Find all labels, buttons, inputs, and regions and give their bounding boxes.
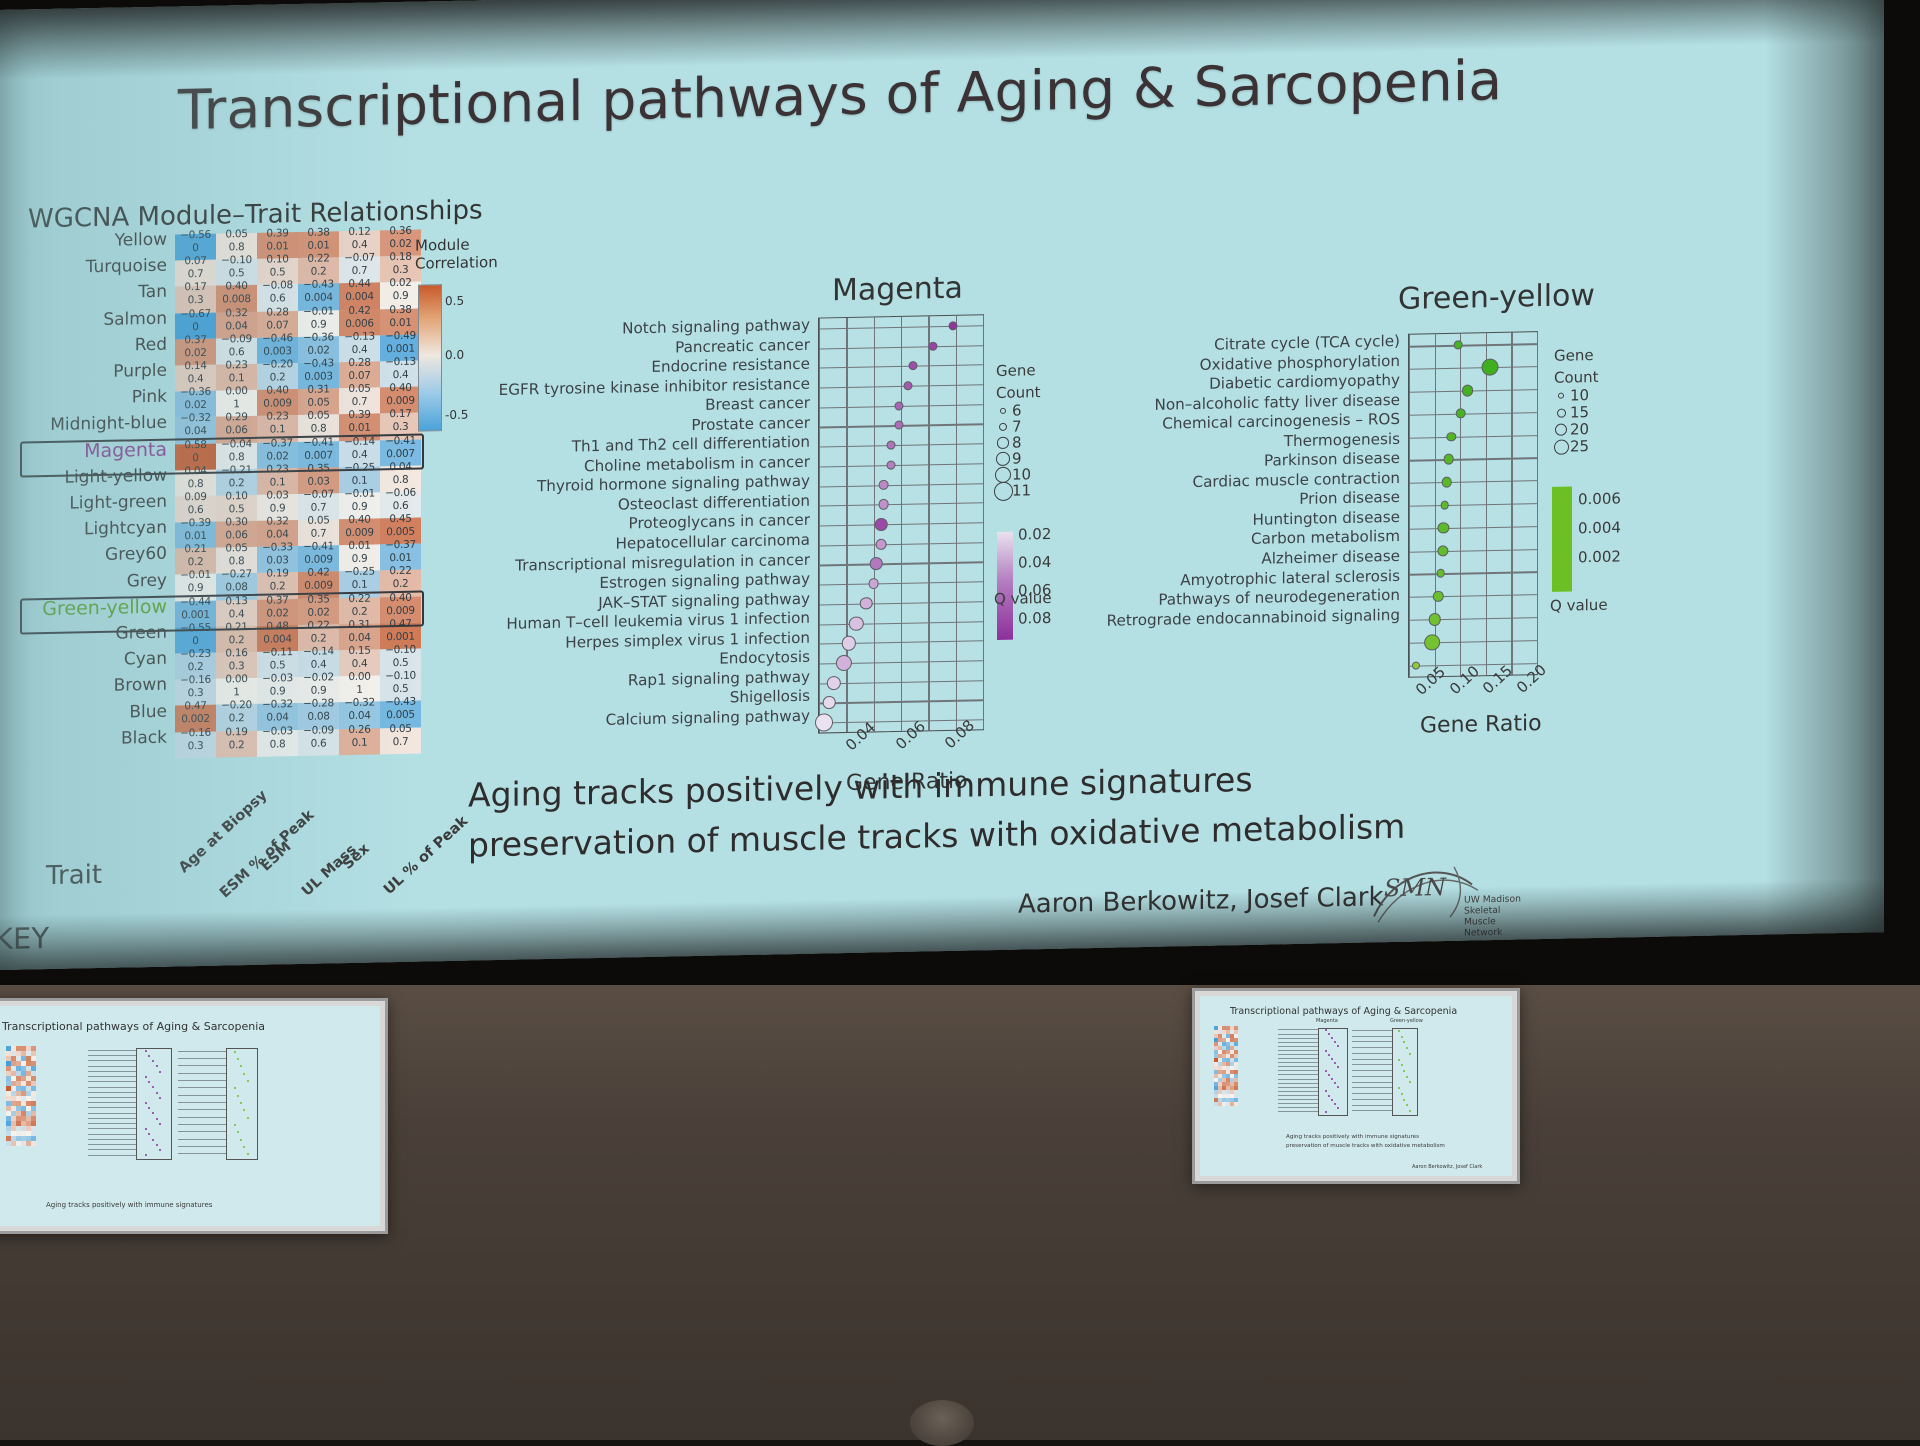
thumb-dotplot-point [1325, 1111, 1327, 1113]
thumb-label-line [178, 1095, 226, 1096]
thumb-label-line [1278, 1103, 1318, 1104]
thumb-label-line [1278, 1054, 1318, 1055]
thumb-label-line [88, 1087, 136, 1088]
thumb-label-line [88, 1128, 136, 1129]
thumb-label-line [1352, 1053, 1392, 1054]
thumb-label-line [1352, 1076, 1392, 1077]
module-legend-tick-1: 0.0 [445, 348, 464, 362]
module-legend-colorbar [418, 284, 442, 431]
thumb-label-line [1278, 1083, 1318, 1084]
thumb-panel-title: Green-yellow [1390, 1018, 1423, 1024]
size-legend-marker [1554, 439, 1569, 454]
dotplot-point [1456, 408, 1467, 419]
screen-gradient-left [0, 2, 420, 970]
gridline-horizontal [1409, 572, 1537, 576]
thumb-heatmap-cell [1234, 1102, 1238, 1106]
monitor-right-title: Transcriptional pathways of Aging & Sarc… [1230, 1006, 1457, 1017]
thumb-label-line [1278, 1062, 1318, 1063]
size-legend-marker [1555, 424, 1567, 436]
thumb-label-line [1278, 1038, 1318, 1039]
thumb-panel-title: Magenta [1316, 1018, 1338, 1024]
thumb-label-line [88, 1123, 136, 1124]
thumb-label-line [88, 1066, 136, 1067]
size-legend-marker [1557, 408, 1566, 417]
thumb-dotplot-point [240, 1139, 242, 1141]
thumb-label-line [88, 1139, 136, 1140]
thumb-dotplot-point [237, 1095, 239, 1097]
module-legend-title-2: Correlation [415, 253, 507, 273]
thumb-dotplot-point [247, 1117, 249, 1119]
dotplot-point [827, 676, 841, 691]
gridline-vertical [1511, 333, 1512, 675]
dotplot-point [1424, 634, 1440, 650]
thumb-dotplot-point [1325, 1070, 1327, 1072]
thumb-dotplot-point [234, 1051, 236, 1053]
qvalue-legend-label: 0.004 [1578, 518, 1621, 537]
gridline-vertical [819, 319, 820, 733]
thumb-label-line [88, 1081, 136, 1082]
thumb-dotplot-point [1331, 1058, 1333, 1060]
thumb-dotplot-point [1325, 1050, 1327, 1052]
gridline-vertical [1486, 333, 1487, 675]
gridline-vertical [1460, 334, 1461, 676]
projection-screen: Transcriptional pathways of Aging & Sarc… [0, 0, 1884, 970]
dotplot-point [1412, 661, 1420, 669]
thumb-label-line [1352, 1059, 1392, 1060]
thumb-label-line [1278, 1107, 1318, 1108]
thumb-dotplot-point [145, 1128, 147, 1130]
dotplot-point [870, 557, 883, 570]
dotplot-point [836, 655, 852, 672]
thumb-label-line [178, 1087, 226, 1088]
gridline-vertical [956, 316, 957, 730]
gridline-horizontal [1409, 503, 1537, 507]
thumb-label-line [88, 1076, 136, 1077]
gridline-horizontal [1409, 435, 1537, 439]
dotplot-point [1481, 359, 1498, 376]
dotplot-magenta-title: Magenta [832, 271, 963, 309]
dotplot-magenta: Magenta Notch signaling pathwayPancreati… [470, 269, 1030, 760]
thumb-dotplot-point [237, 1058, 239, 1060]
thumb-label-line [88, 1118, 136, 1119]
gridline-vertical [901, 317, 902, 731]
size-legend-marker [996, 452, 1010, 466]
dotplot-point [823, 696, 836, 709]
desk-object [910, 1400, 974, 1446]
size-legend-marker [1558, 393, 1564, 399]
dotplot-point [1438, 522, 1449, 533]
thumb-label-line [1278, 1046, 1318, 1047]
gridline-horizontal [1409, 526, 1537, 530]
dotplot-point [1462, 384, 1474, 396]
dotplot-point [876, 539, 887, 550]
gy-size-legend-title-2: Count [1554, 368, 1599, 387]
gy-size-legend-title-1: Gene [1554, 346, 1594, 365]
size-legend-marker [999, 422, 1008, 431]
thumb-label-line [1352, 1036, 1392, 1037]
thumb-label-line [178, 1153, 226, 1154]
monitor-left-caption: Aging tracks positively with immune sign… [46, 1201, 212, 1209]
dotplot-point [1454, 341, 1463, 350]
dotplot-point [868, 578, 879, 589]
thumb-dotplot-point [152, 1139, 154, 1141]
monitor-left[interactable]: Transcriptional pathways of Aging & Sarc… [0, 998, 388, 1234]
thumb-label-line [88, 1050, 136, 1051]
gy-qvalue-legend-title: Q value [1550, 596, 1608, 615]
thumb-label-line [88, 1149, 136, 1150]
dotplot-point [1443, 454, 1454, 465]
qvalue-legend-label: 0.006 [1578, 489, 1621, 508]
thumb-label-line [1352, 1030, 1392, 1031]
thumb-label-line [88, 1060, 136, 1061]
thumb-dotplot-point [156, 1092, 158, 1094]
thumb-label-line [1278, 1029, 1318, 1030]
thumb-dotplot-point [1328, 1054, 1330, 1056]
monitor-right-authors: Aaron Berkowitz, Josef Clark [1412, 1164, 1482, 1170]
thumb-dotplot-point [247, 1080, 249, 1082]
dotplot-green-yellow: Green-yellow Citrate cycle (TCA cycle)Ox… [1020, 277, 1660, 760]
dotplot-point [904, 381, 913, 390]
thumb-label-line [178, 1058, 226, 1059]
thumb-label-line [88, 1071, 136, 1072]
size-legend-label: 20 [1570, 420, 1589, 438]
thumb-dotplot-panel [136, 1048, 172, 1160]
thumb-dotplot-point [1406, 1047, 1408, 1049]
thumb-dotplot-point [1398, 1059, 1400, 1061]
thumb-label-line [1278, 1079, 1318, 1080]
dotplot-gy-title: Green-yellow [1398, 278, 1595, 317]
thumb-label-line [88, 1102, 136, 1103]
monitor-left-screen: Transcriptional pathways of Aging & Sarc… [0, 1006, 380, 1226]
thumb-label-line [178, 1073, 226, 1074]
thumb-label-line [1278, 1050, 1318, 1051]
thumb-label-line [1278, 1070, 1318, 1071]
gridline-horizontal [1409, 549, 1537, 553]
gridline-horizontal [1409, 594, 1537, 598]
size-legend-label: 15 [1570, 403, 1589, 421]
thumb-label-line [178, 1109, 226, 1110]
thumb-label-line [1352, 1099, 1392, 1100]
thumb-dotplot-panel [1318, 1028, 1348, 1116]
monitor-right-screen: Transcriptional pathways of Aging & Sarc… [1200, 996, 1512, 1176]
dotplot-point [878, 499, 889, 510]
screen-gradient-right [1764, 0, 1884, 935]
dotplot-point [1428, 613, 1441, 626]
size-legend-marker [994, 481, 1013, 500]
thumb-dotplot-point [145, 1076, 147, 1078]
thumb-label-line [1278, 1058, 1318, 1059]
thumb-dotplot-point [1406, 1076, 1408, 1078]
thumb-label-line [1352, 1041, 1392, 1042]
thumb-label-line [1278, 1034, 1318, 1035]
thumb-dotplot-point [1401, 1093, 1403, 1095]
thumb-dotplot-point [156, 1144, 158, 1146]
thumb-dotplot-point [1331, 1099, 1333, 1101]
dotplot-point [887, 441, 896, 450]
dotplot-point [878, 479, 889, 490]
dotplot-point [1436, 569, 1445, 578]
thumb-dotplot-panel [226, 1048, 258, 1160]
thumb-label-line [1352, 1064, 1392, 1065]
thumb-label-line [88, 1092, 136, 1093]
gridline-horizontal [1409, 366, 1537, 370]
thumb-label-line [1352, 1087, 1392, 1088]
monitor-right-caption-2: preservation of muscle tracks with oxida… [1286, 1143, 1445, 1149]
dotplot-point [929, 341, 938, 350]
conclusion-text: Aging tracks positively with immune sign… [468, 752, 1405, 871]
dotplot-point [842, 636, 856, 651]
thumb-dotplot-point [145, 1102, 147, 1104]
thumb-label-line [178, 1124, 226, 1125]
size-legend-label: 10 [1570, 386, 1589, 404]
gridline-horizontal [1409, 344, 1537, 348]
thumb-label-line [1278, 1099, 1318, 1100]
dotplot-point [875, 518, 888, 531]
gridline-vertical [1409, 335, 1410, 677]
thumb-label-line [1352, 1047, 1392, 1048]
module-legend-tick-2: -0.5 [445, 408, 468, 422]
thumb-label-line [178, 1139, 226, 1140]
dotplot-point [1441, 477, 1452, 488]
thumb-label-line [1278, 1095, 1318, 1096]
thumb-dotplot-point [156, 1118, 158, 1120]
module-legend-tick-0: 0.5 [445, 294, 464, 308]
thumb-label-line [1278, 1087, 1318, 1088]
thumb-label-line [88, 1134, 136, 1135]
thumb-dotplot-point [1401, 1036, 1403, 1038]
thumb-dotplot-point [145, 1050, 147, 1052]
monitor-left-title: Transcriptional pathways of Aging & Sarc… [2, 1020, 265, 1033]
thumb-label-line [178, 1102, 226, 1103]
dotplot-point [860, 597, 873, 610]
thumb-label-line [1352, 1082, 1392, 1083]
size-legend-marker [995, 466, 1011, 483]
gridline-horizontal [1409, 412, 1537, 416]
gridline-horizontal [1409, 480, 1537, 484]
dotplot-point [1433, 591, 1444, 602]
thumb-label-line [88, 1155, 136, 1156]
thumb-label-line [1352, 1105, 1392, 1106]
thumb-heatmap-cell [31, 1141, 36, 1146]
dotplot-magenta-category-labels: Notch signaling pathwayPancreatic cancer… [470, 316, 810, 733]
thumb-label-line [1278, 1111, 1318, 1112]
thumb-dotplot-point [1409, 1110, 1411, 1112]
thumb-label-line [1278, 1042, 1318, 1043]
gridline-vertical [928, 316, 929, 730]
thumb-label-line [178, 1117, 226, 1118]
gy-qvalue-colorbar [1552, 486, 1572, 591]
thumb-label-line [88, 1097, 136, 1098]
thumb-label-line [1352, 1070, 1392, 1071]
dotplot-point [1447, 432, 1456, 441]
thumb-dotplot-point [1409, 1053, 1411, 1055]
thumb-label-line [1352, 1093, 1392, 1094]
dotplot-gy-panel [1408, 331, 1538, 678]
thumb-dotplot-point [1398, 1030, 1400, 1032]
dotplot-gy-xlabel: Gene Ratio [1420, 711, 1542, 738]
gridline-horizontal [1409, 458, 1537, 462]
screenshot-root: Transcriptional pathways of Aging & Sarc… [0, 0, 1920, 1440]
dotplot-magenta-panel [818, 314, 984, 733]
thumb-dotplot-point [1328, 1095, 1330, 1097]
dotplot-point [1437, 545, 1448, 556]
magenta-qvalue-colorbar [997, 532, 1013, 640]
thumb-label-line [178, 1146, 226, 1147]
thumb-label-line [1278, 1066, 1318, 1067]
gridline-vertical [983, 315, 984, 729]
thumb-label-line [178, 1131, 226, 1132]
thumb-label-line [88, 1055, 136, 1056]
dotplot-gy-category-labels: Citrate cycle (TCA cycle)Oxidative phosp… [1020, 332, 1400, 633]
dotplot-point [887, 460, 896, 469]
qvalue-legend-label: 0.002 [1578, 547, 1621, 566]
dotplot-point [1440, 501, 1449, 510]
dotplot-point [849, 616, 863, 631]
thumb-label-line [88, 1113, 136, 1114]
module-correlation-legend: Module Correlation 0.5 0.0 -0.5 [415, 235, 507, 273]
thumb-label-line [178, 1080, 226, 1081]
thumb-label-line [178, 1051, 226, 1052]
thumb-dotplot-point [234, 1124, 236, 1126]
dotplot-point [909, 361, 918, 370]
thumb-label-line [1278, 1091, 1318, 1092]
thumb-label-line [178, 1065, 226, 1066]
dotplot-point [815, 713, 833, 731]
thumb-label-line [88, 1107, 136, 1108]
monitor-right[interactable]: Transcriptional pathways of Aging & Sarc… [1192, 988, 1520, 1184]
size-legend-marker [1000, 408, 1006, 414]
thumb-label-line [1352, 1110, 1392, 1111]
size-legend-marker [997, 437, 1008, 448]
gridline-vertical [1537, 332, 1538, 674]
monitor-right-caption-1: Aging tracks positively with immune sign… [1286, 1134, 1419, 1140]
size-legend-label: 25 [1570, 437, 1589, 455]
thumb-label-line [88, 1144, 136, 1145]
module-legend-title-1: Module [415, 235, 507, 255]
thumb-label-line [1278, 1074, 1318, 1075]
